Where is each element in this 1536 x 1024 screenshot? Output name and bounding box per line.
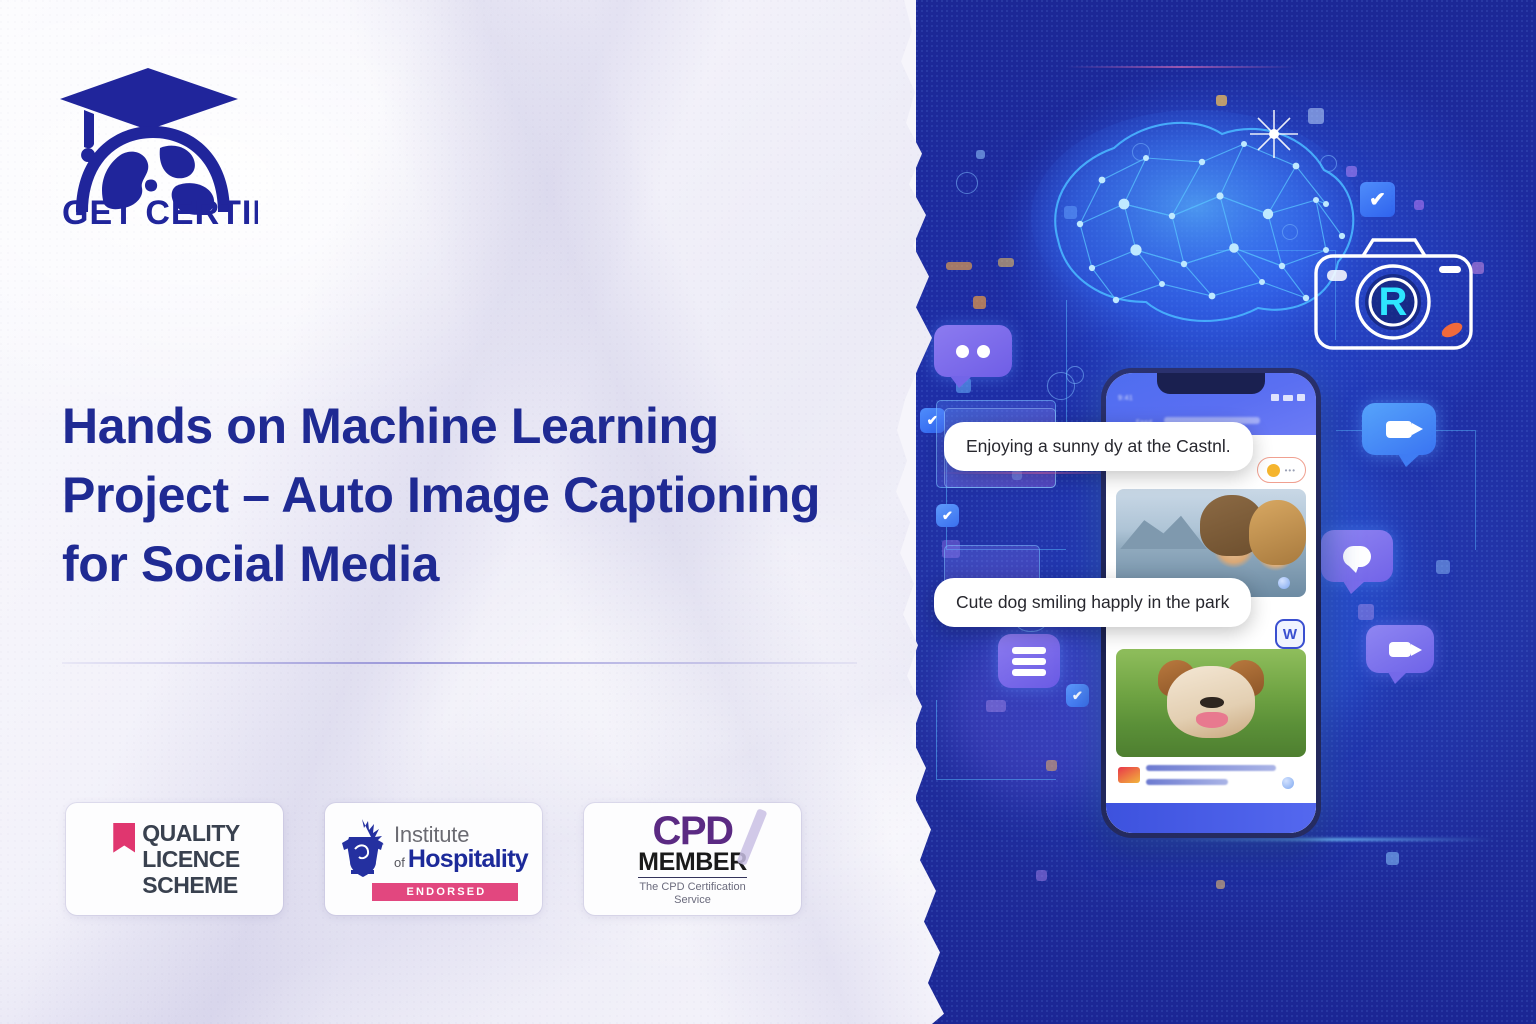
ioh-line-1: Institute <box>394 824 528 846</box>
poster-canvas: R ✔ ✔ ✔ ✔ <box>0 0 1536 1024</box>
check-glyph: ✔ <box>942 508 953 524</box>
fab-letter: W <box>1283 626 1297 643</box>
cpd-slash-decoration <box>737 808 768 866</box>
title-line-2: Project – Auto Image Captioning <box>62 461 892 530</box>
circuit-wire <box>936 700 1056 780</box>
phone-notch <box>1157 373 1265 394</box>
qls-line-3: SCHEME <box>142 872 239 898</box>
ai-caption-bubble-1: Enjoying a sunny dy at the Castnl. <box>944 422 1253 471</box>
check-glyph: ✔ <box>1072 688 1083 704</box>
qls-line-2: LICENCE <box>142 846 239 872</box>
person-hair <box>1249 500 1306 565</box>
title-line-1: Hands on Machine Learning <box>62 392 892 461</box>
particle-chip <box>1358 604 1374 620</box>
brand-logo[interactable]: GET CERTIFY <box>48 52 258 227</box>
post-status-dot <box>1282 777 1294 789</box>
particle-chip <box>1386 852 1399 865</box>
badge-quality-licence-scheme[interactable]: QUALITY LICENCE SCHEME <box>66 803 283 915</box>
check-glyph: ✔ <box>1369 187 1386 212</box>
particle-chip <box>1436 560 1450 574</box>
ioh-endorsed-banner: ENDORSED <box>372 883 518 901</box>
ai-caption-bubble-2: Cute dog smiling happly in the park <box>934 578 1251 627</box>
dog-tongue <box>1196 712 1228 728</box>
title-line-3: for Social Media <box>62 530 892 599</box>
feed-photo-dog <box>1116 649 1306 757</box>
verified-check-icon: ✔ <box>936 504 959 527</box>
particle-chip <box>1414 200 1424 210</box>
bookmark-icon <box>113 823 135 853</box>
video-call-bubble-icon <box>1362 403 1436 455</box>
app-bottom-bar <box>1106 803 1316 833</box>
ai-illustration-panel: R ✔ ✔ ✔ ✔ <box>916 0 1536 1024</box>
accent-line <box>1166 838 1496 841</box>
ioh-of: of <box>394 855 405 870</box>
ai-caption-fab-button[interactable]: W <box>1275 619 1305 649</box>
particle-chip <box>1216 880 1225 889</box>
verified-check-icon: ✔ <box>1066 684 1089 707</box>
logo-wordmark: GET CERTIFY <box>62 194 258 227</box>
status-bar-time: 9:41 <box>1118 395 1133 402</box>
cpd-line-1: CPD <box>653 812 733 850</box>
cpd-sub-1: The CPD Certification <box>639 881 745 894</box>
ioh-line-2: Hospitality <box>408 847 528 872</box>
post-avatar-icon <box>1118 767 1140 783</box>
reaction-chip[interactable]: ••• <box>1257 457 1306 483</box>
particle-chip <box>976 150 985 159</box>
video-call-bubble-icon <box>1366 625 1434 673</box>
camera-badge-letter: R <box>1379 280 1408 324</box>
app-feed: ••• <box>1106 435 1316 833</box>
reaction-emoji-icon <box>1267 464 1280 477</box>
mountain-shape <box>1120 513 1207 550</box>
photo-tag-dot <box>1278 577 1290 589</box>
particle-chip <box>973 296 986 309</box>
blurred-caption-line <box>1146 765 1276 771</box>
page-title: Hands on Machine Learning Project – Auto… <box>62 392 892 599</box>
accreditation-badges: QUALITY LICENCE SCHEME <box>66 803 801 915</box>
qls-line-1: QUALITY <box>142 820 239 846</box>
camera-icon: R <box>1311 230 1476 365</box>
title-divider <box>62 662 857 664</box>
chat-dots-bubble-icon <box>934 325 1012 377</box>
verified-check-icon: ✔ <box>1360 182 1395 217</box>
cpd-line-2: MEMBER <box>638 850 747 878</box>
cpd-sub-2: Service <box>639 894 745 907</box>
blurred-caption-line <box>1146 779 1228 785</box>
chat-bubble-icon <box>1321 530 1393 582</box>
badge-cpd-member[interactable]: CPD MEMBER The CPD Certification Service <box>584 803 801 915</box>
status-bar-icons <box>1271 394 1305 401</box>
ring-decoration <box>956 172 978 194</box>
accent-line <box>1066 66 1296 68</box>
badge-institute-of-hospitality[interactable]: Institute of Hospitality ENDORSED <box>325 803 542 915</box>
list-menu-icon <box>998 634 1060 688</box>
hospitality-crest-icon <box>339 817 386 879</box>
particle-chip <box>1036 870 1047 881</box>
particle-chip <box>946 262 972 270</box>
